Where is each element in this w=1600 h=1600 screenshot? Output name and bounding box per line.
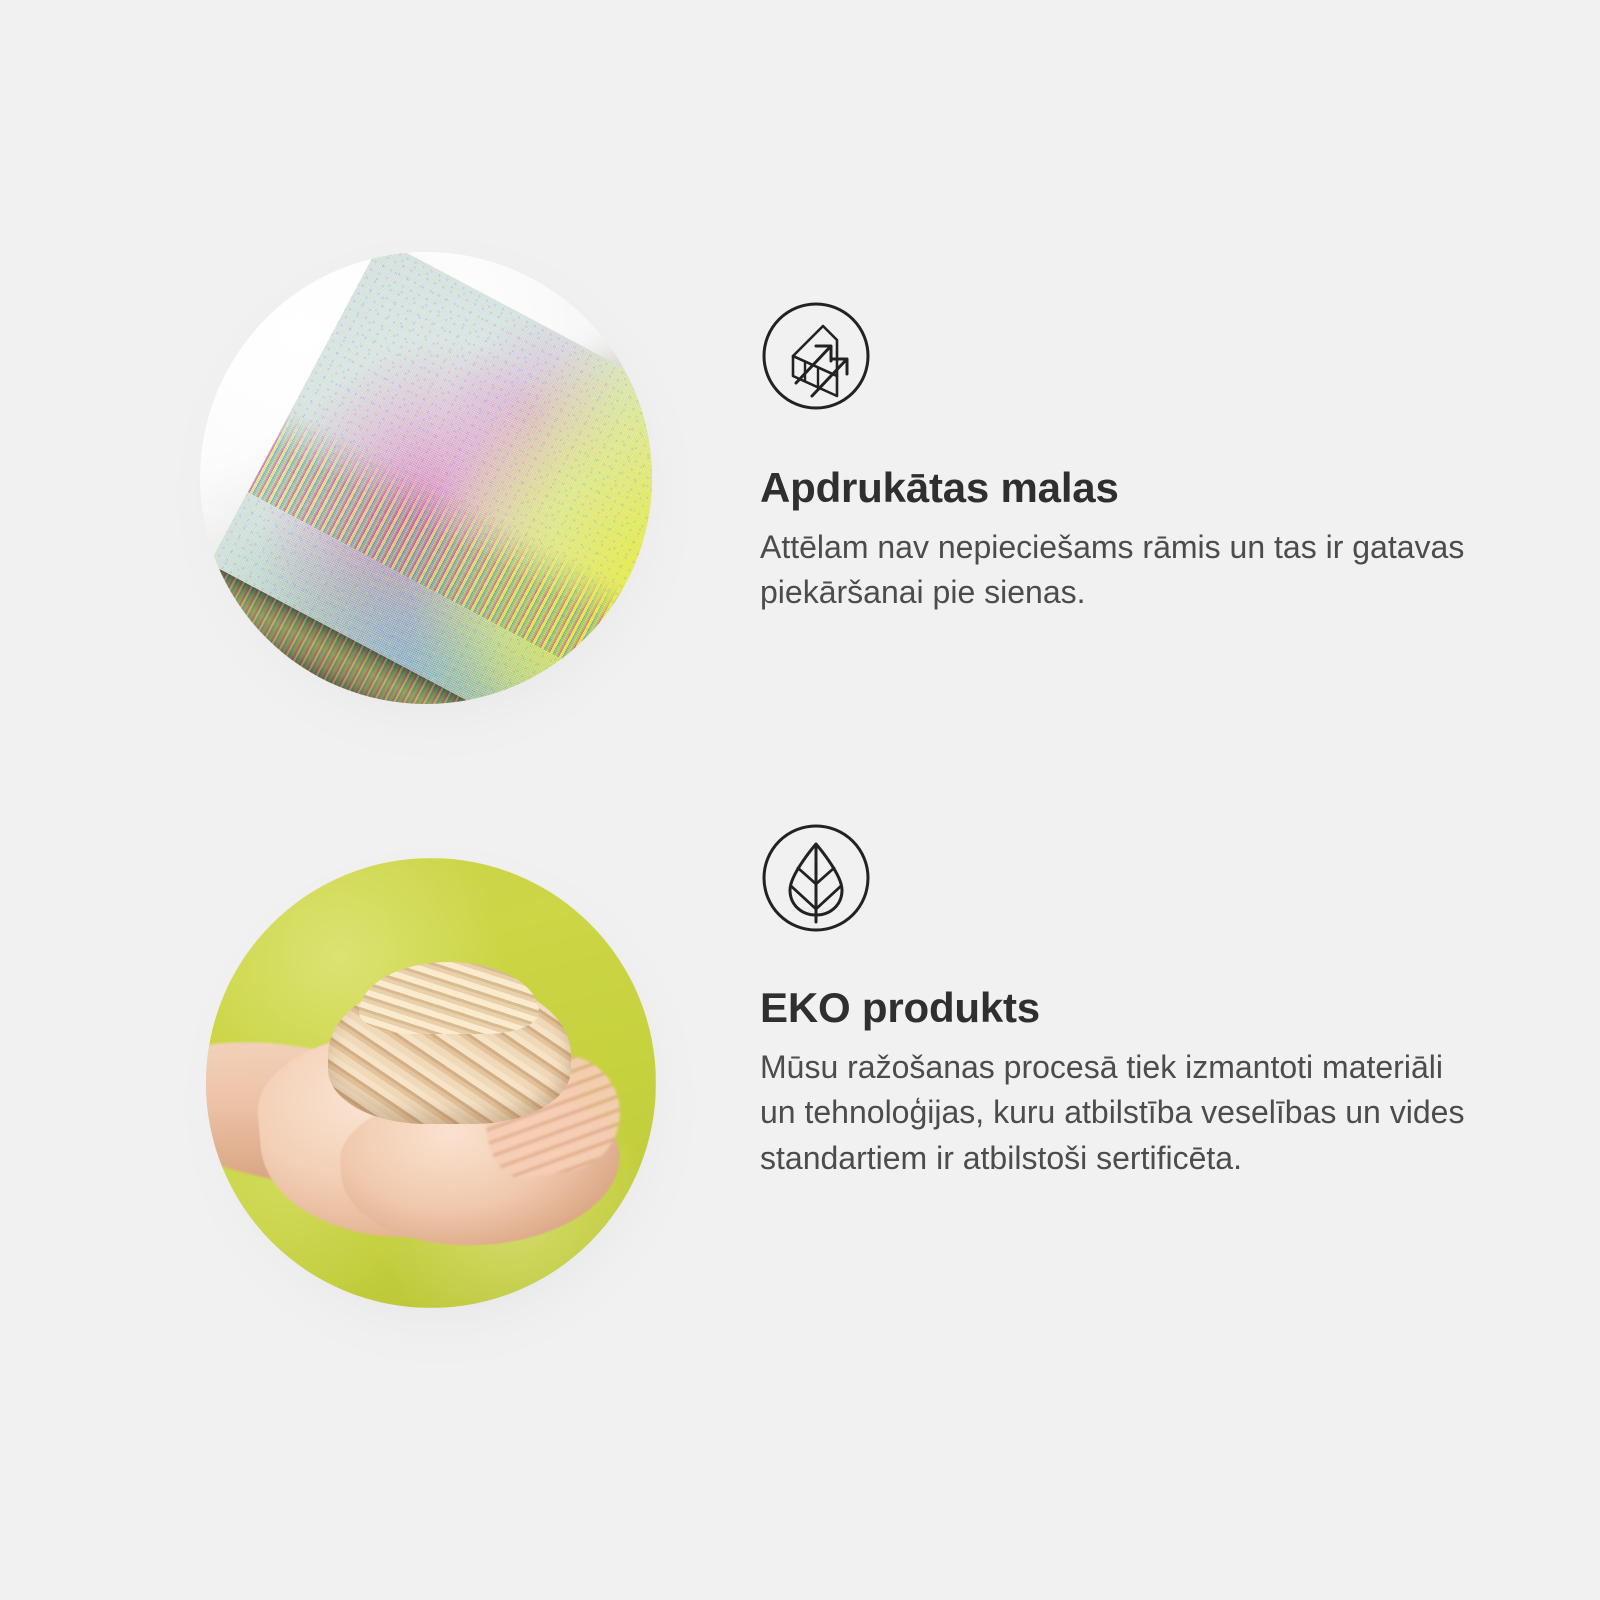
- feature-description: Mūsu ražošanas procesā tiek izmantoti ma…: [760, 1045, 1470, 1181]
- feature-block-eco-product: EKO produkts Mūsu ražošanas procesā tiek…: [0, 800, 1600, 1420]
- feature-description: Attēlam nav nepieciešams rāmis un tas ir…: [760, 525, 1470, 616]
- leaf-icon: [760, 822, 872, 934]
- feature-title: EKO produkts: [760, 984, 1480, 1031]
- feature-block-printed-edges: Apdrukātas malas Attēlam nav nepieciešam…: [0, 190, 1600, 810]
- feature-image-wrap-eco-product: [0, 800, 760, 1420]
- feature-title: Apdrukātas malas: [760, 464, 1480, 511]
- feature-image-wrap-printed-edges: [0, 190, 760, 810]
- product-features-page: Apdrukātas malas Attēlam nav nepieciešam…: [0, 0, 1600, 1600]
- wood-chips-in-hands-photo: [206, 858, 656, 1308]
- canvas-corner-photo: [200, 252, 652, 704]
- printed-edges-icon: [760, 300, 872, 412]
- feature-text-eco-product: EKO produkts Mūsu ražošanas procesā tiek…: [760, 800, 1600, 1181]
- feature-text-printed-edges: Apdrukātas malas Attēlam nav nepieciešam…: [760, 190, 1600, 616]
